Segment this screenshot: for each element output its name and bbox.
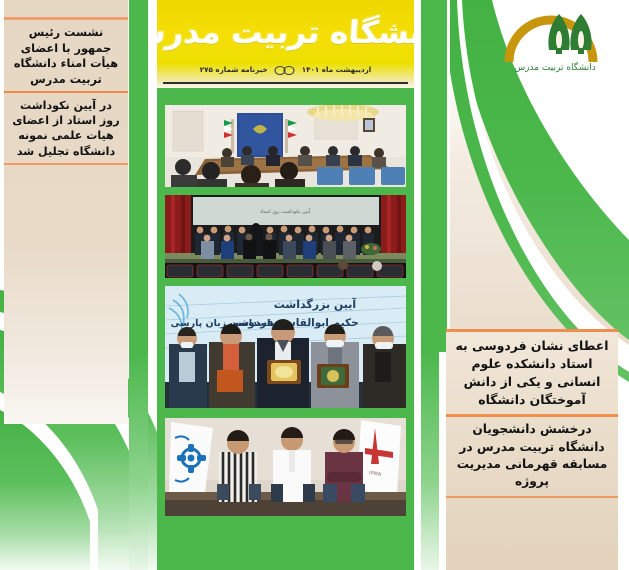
photo-group-stage[interactable]: آیین نکوداشت روز استاد	[165, 195, 406, 278]
svg-text:آیین بزرگداشت: آیین بزرگداشت	[274, 297, 357, 311]
headline-president-meeting[interactable]: نشست رئیس جمهور با اعضای هیأت امناء دانش…	[4, 20, 128, 91]
divider-bottom	[4, 163, 128, 165]
masthead-underline	[163, 82, 408, 84]
photo-students-team[interactable]: IPMA	[165, 418, 406, 516]
right-divider-bottom	[446, 496, 618, 498]
newsletter-page: نشست رئیس جمهور با اعضای هیأت امناء دانش…	[0, 0, 629, 570]
svg-text:آیین نکوداشت روز استاد: آیین نکوداشت روز استاد	[260, 208, 311, 215]
left-sidebar: نشست رئیس جمهور با اعضای هیأت امناء دانش…	[4, 0, 128, 424]
center-column: دانشگاه تربیت مدرس اردیبهشت ماه ۱۴۰۱ خبر…	[157, 0, 414, 570]
photo-ferdowsi-award[interactable]: آیین بزرگداشت حکیم ابوالقاسم فردوسی و پا…	[165, 286, 406, 408]
rings-ornament-icon	[274, 66, 296, 75]
masthead-newsletter-label: خبرنامه شماره ۲۷۵	[200, 65, 268, 74]
photo-presidential-meeting[interactable]	[165, 105, 406, 187]
masthead-title: دانشگاه تربیت مدرس	[157, 4, 414, 62]
headline-ferdowsi-medal[interactable]: اعطای نشان فردوسی به استاد دانشکده علوم …	[446, 332, 618, 414]
masthead-date: اردیبهشت ماه ۱۴۰۱	[302, 65, 372, 74]
green-bar-left	[129, 0, 148, 570]
masthead: دانشگاه تربیت مدرس اردیبهشت ماه ۱۴۰۱ خبر…	[157, 0, 414, 88]
right-sidebar: اعطای نشان فردوسی به استاد دانشکده علوم …	[446, 329, 618, 570]
logo-caption: دانشگاه تربیت مدرس	[514, 61, 596, 73]
university-logo[interactable]: دانشگاه تربیت مدرس	[495, 6, 617, 76]
headline-project-management[interactable]: درخشش دانشجویان دانشگاه تربیت مدرس در مس…	[446, 417, 618, 495]
masthead-subtitle-row: اردیبهشت ماه ۱۴۰۱ خبرنامه شماره ۲۷۵	[165, 65, 406, 74]
green-bar-right	[421, 0, 439, 570]
headline-teacher-day[interactable]: در آیین نکوداشت روز استاد از اعضای هیات …	[4, 93, 128, 162]
photo-stack: آیین نکوداشت روز استاد	[157, 88, 414, 570]
